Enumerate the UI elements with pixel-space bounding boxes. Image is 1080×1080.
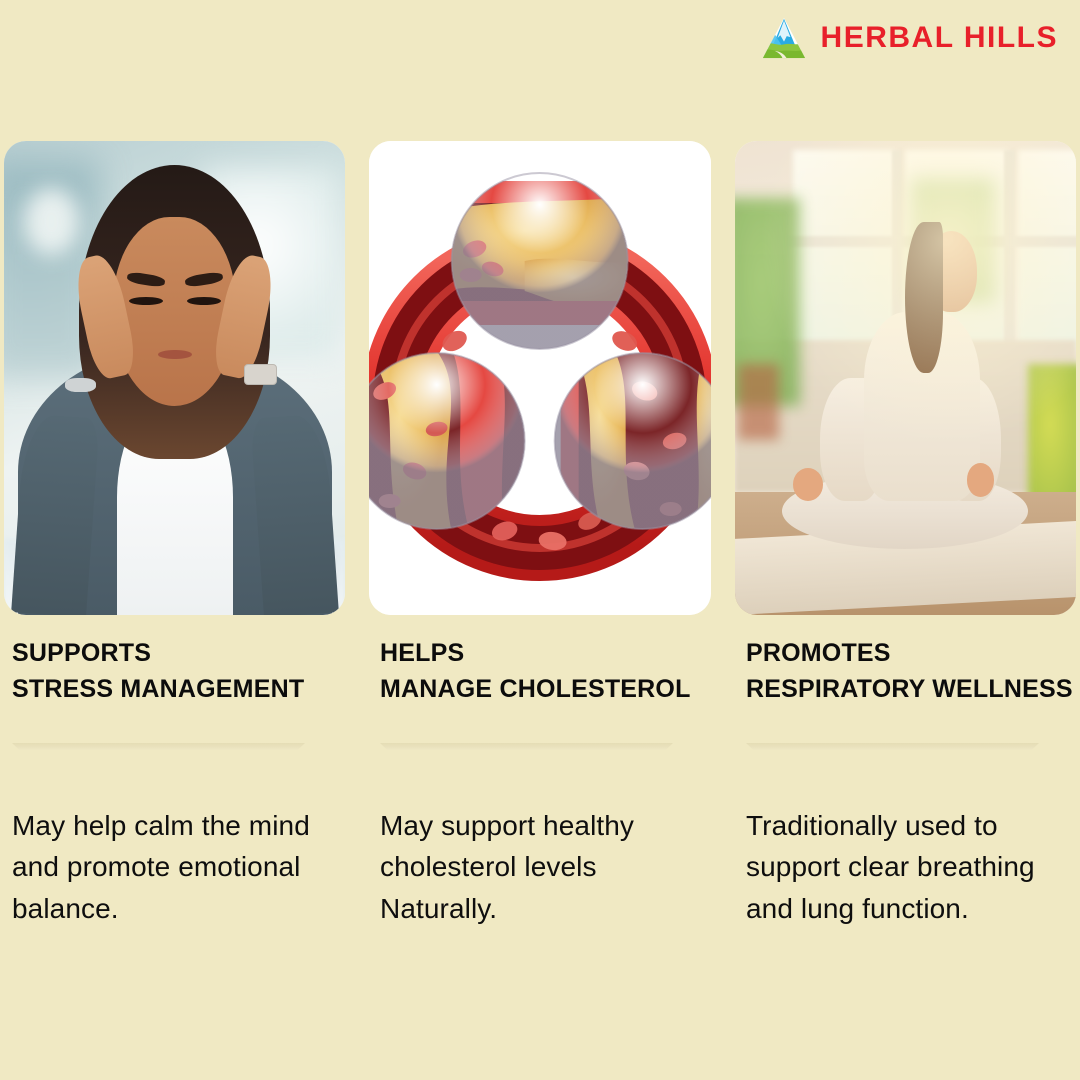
benefit-heading-line1: HELPS: [380, 636, 686, 672]
benefit-heading-line2: MANAGE CHOLESTEROL: [380, 672, 686, 708]
brand-name: HERBAL HILLS: [821, 23, 1058, 53]
benefit-heading-line2: STRESS MANAGEMENT: [12, 672, 326, 708]
photo-bracelet: [65, 378, 96, 392]
card-stress-management[interactable]: [4, 141, 345, 615]
stressed-woman-photo: [4, 141, 345, 615]
benefit-divider: [746, 743, 1046, 753]
mountain-hills-logo-icon: [761, 16, 807, 60]
benefit-body-text: May support healthy cholesterol levels N…: [380, 805, 686, 929]
benefit-body-text: May help calm the mind and promote emoti…: [12, 805, 326, 929]
photo-wristwatch: [244, 364, 277, 385]
benefit-heading-line2: RESPIRATORY WELLNESS: [746, 672, 1046, 708]
benefit-heading-line1: SUPPORTS: [12, 636, 326, 672]
card-manage-cholesterol[interactable]: [369, 141, 710, 615]
benefit-column-cholesterol: HELPS MANAGE CHOLESTEROL May support hea…: [360, 636, 720, 929]
benefit-text-row: SUPPORTS STRESS MANAGEMENT May help calm…: [0, 636, 1080, 929]
card-respiratory-wellness[interactable]: [735, 141, 1076, 615]
artery-ring-graphic: [369, 141, 710, 615]
poster-root: HERBAL HILLS: [0, 0, 1080, 1080]
photo-sunlight-glow: [735, 141, 1076, 473]
benefit-divider: [380, 743, 686, 753]
benefit-heading-line1: PROMOTES: [746, 636, 1046, 672]
photo-face: [113, 217, 236, 407]
benefit-divider: [12, 743, 326, 753]
benefit-column-respiratory: PROMOTES RESPIRATORY WELLNESS Traditiona…: [720, 636, 1080, 929]
benefit-column-stress: SUPPORTS STRESS MANAGEMENT May help calm…: [0, 636, 360, 929]
image-card-row: [0, 141, 1080, 615]
meditating-woman-photo: [735, 141, 1076, 615]
benefit-body-text: Traditionally used to support clear brea…: [746, 805, 1046, 929]
brand-logo[interactable]: HERBAL HILLS: [761, 16, 1058, 60]
photo-mouth: [158, 350, 192, 359]
photo-bokeh-light: [24, 188, 79, 254]
cholesterol-artery-illustration: [369, 141, 710, 615]
